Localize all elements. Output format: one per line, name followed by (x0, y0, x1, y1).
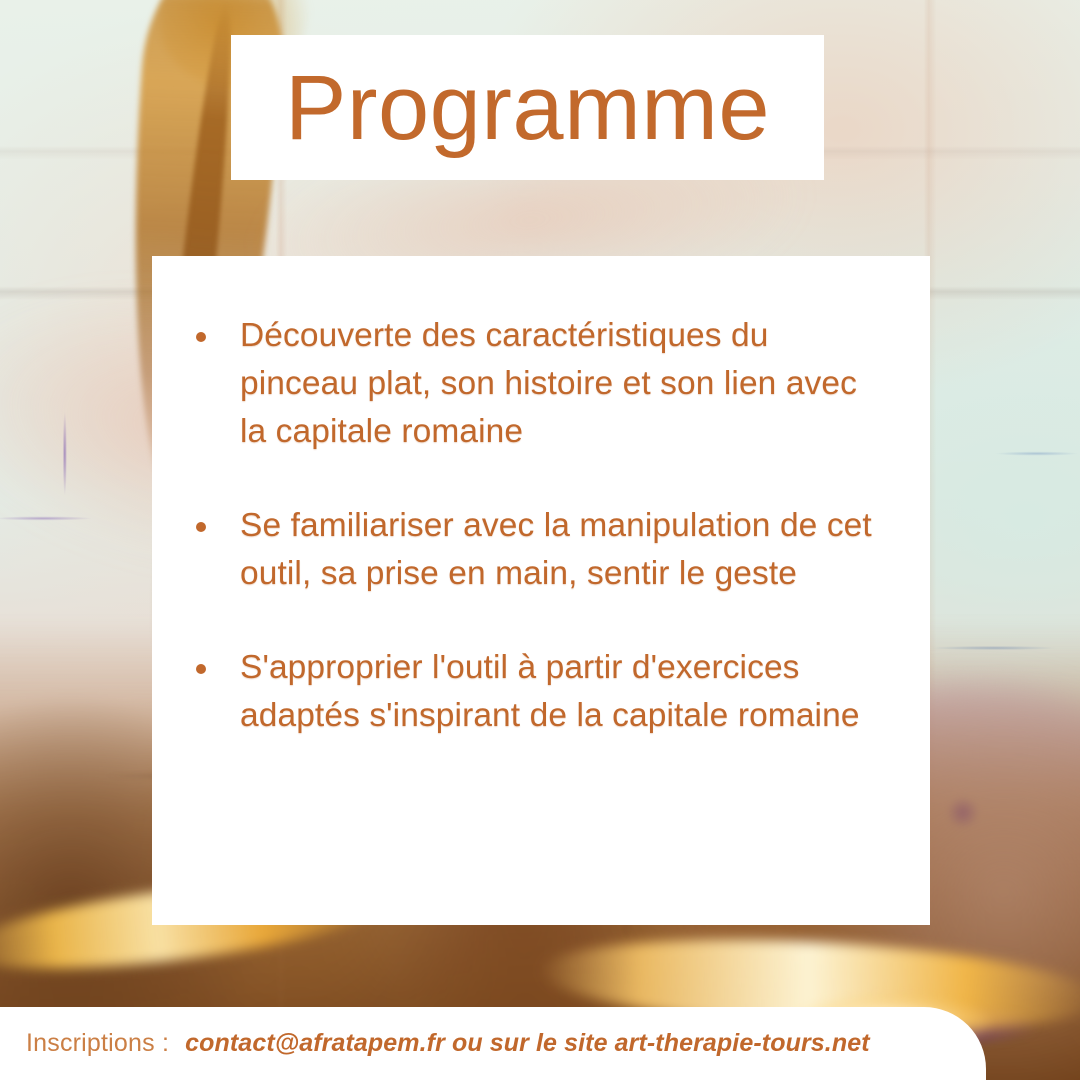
bullet-dot-icon (196, 664, 206, 674)
footer-band: Inscriptions : contact@afratapem.fr ou s… (0, 1007, 986, 1080)
list-item-label: Se familiariser avec la manipulation de … (240, 507, 872, 592)
programme-bullet-list: Découverte des caractéristiques du pince… (196, 312, 882, 740)
bullet-dot-icon (196, 332, 206, 342)
poster-canvas: Programme Découverte des caractéristique… (0, 0, 1080, 1080)
programme-card: Découverte des caractéristiques du pince… (152, 256, 930, 925)
list-item-label: S'approprier l'outil à partir d'exercice… (240, 649, 860, 734)
registration-label: Inscriptions : (26, 1029, 169, 1058)
registration-contact[interactable]: contact@afratapem.fr ou sur le site art-… (185, 1029, 870, 1058)
bullet-dot-icon (196, 522, 206, 532)
list-item: S'approprier l'outil à partir d'exercice… (196, 644, 882, 740)
list-item-label: Découverte des caractéristiques du pince… (240, 317, 857, 450)
title-card: Programme (231, 35, 824, 180)
list-item: Découverte des caractéristiques du pince… (196, 312, 882, 456)
page-title: Programme (285, 62, 770, 154)
list-item: Se familiariser avec la manipulation de … (196, 502, 882, 598)
